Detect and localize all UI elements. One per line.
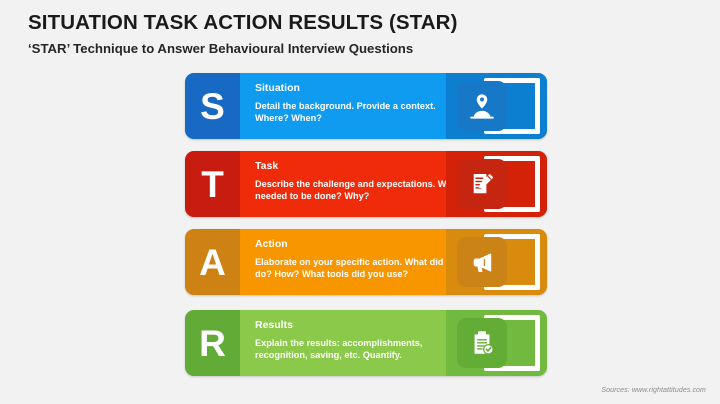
- star-card-letter: A: [199, 244, 226, 281]
- star-card-text: ActionElaborate on your specific action.…: [255, 238, 465, 281]
- star-card-body: ResultsExplain the results: accomplishme…: [240, 310, 547, 376]
- star-card-body: SituationDetail the background. Provide …: [240, 73, 547, 139]
- star-card-icon-zone: [446, 229, 547, 295]
- star-card-letter-block: A: [185, 229, 240, 295]
- star-card-s[interactable]: SSituationDetail the background. Provide…: [185, 73, 547, 139]
- star-card-icon-zone: [446, 151, 547, 217]
- star-card-list: SSituationDetail the background. Provide…: [185, 73, 547, 381]
- star-card-heading: Results: [255, 319, 465, 331]
- star-card-icon-zone: [446, 310, 547, 376]
- megaphone-icon: [457, 237, 507, 287]
- slide-header: SITUATION TASK ACTION RESULTS (STAR) ‘ST…: [28, 12, 692, 56]
- star-card-letter-block: T: [185, 151, 240, 217]
- star-card-letter: S: [200, 88, 225, 125]
- checklist-pencil-icon: [457, 159, 507, 209]
- page-title: SITUATION TASK ACTION RESULTS (STAR): [28, 12, 692, 35]
- star-card-letter: R: [199, 325, 226, 362]
- star-card-t[interactable]: TTaskDescribe the challenge and expectat…: [185, 151, 547, 217]
- star-card-description: Detail the background. Provide a context…: [255, 100, 465, 125]
- star-card-heading: Task: [255, 160, 465, 172]
- star-card-letter-block: R: [185, 310, 240, 376]
- person-location-icon: [457, 81, 507, 131]
- star-card-letter-block: S: [185, 73, 240, 139]
- star-card-a[interactable]: AActionElaborate on your specific action…: [185, 229, 547, 295]
- star-card-description: Elaborate on your specific action. What …: [255, 256, 465, 281]
- star-card-body: TaskDescribe the challenge and expectati…: [240, 151, 547, 217]
- star-card-letter: T: [201, 166, 224, 203]
- star-card-text: ResultsExplain the results: accomplishme…: [255, 319, 465, 362]
- source-attribution: Sources: www.rightattitudes.com: [601, 387, 706, 394]
- star-card-text: SituationDetail the background. Provide …: [255, 82, 465, 125]
- star-card-body: ActionElaborate on your specific action.…: [240, 229, 547, 295]
- clipboard-check-icon: [457, 318, 507, 368]
- star-card-text: TaskDescribe the challenge and expectati…: [255, 160, 465, 203]
- star-card-description: Explain the results: accomplishments, re…: [255, 337, 465, 362]
- page-subtitle: ‘STAR’ Technique to Answer Behavioural I…: [28, 42, 692, 57]
- star-card-r[interactable]: RResultsExplain the results: accomplishm…: [185, 310, 547, 376]
- star-card-icon-zone: [446, 73, 547, 139]
- star-card-heading: Situation: [255, 82, 465, 94]
- star-card-description: Describe the challenge and expectations.…: [255, 178, 465, 203]
- star-card-heading: Action: [255, 238, 465, 250]
- star-slide: SITUATION TASK ACTION RESULTS (STAR) ‘ST…: [0, 0, 720, 404]
